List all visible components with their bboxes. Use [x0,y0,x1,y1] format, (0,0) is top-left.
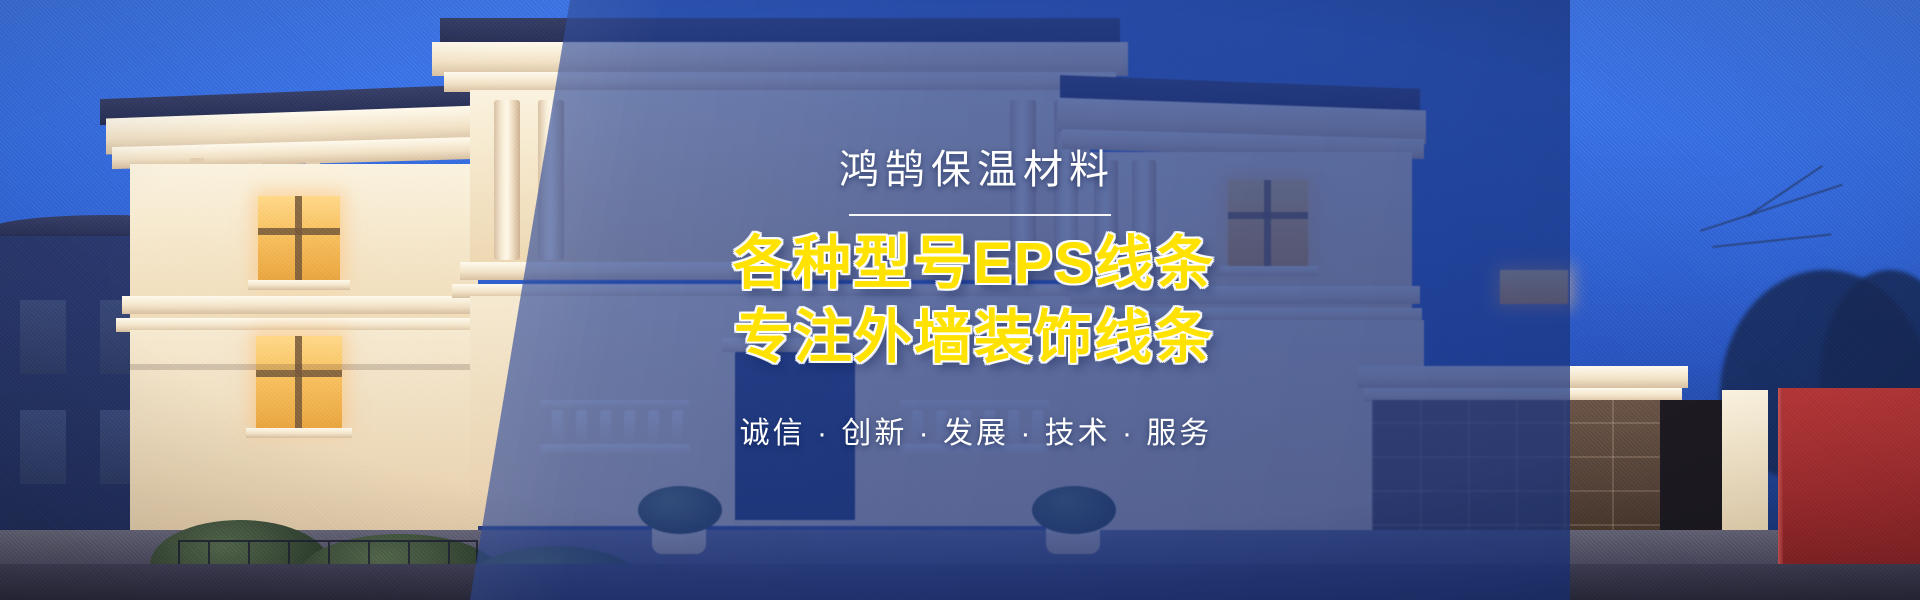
red-wall [1778,388,1920,570]
neighbor-window-1 [20,300,66,374]
villa-left-window-upper-mullion-h [258,228,340,235]
tagline: 诚信 · 创新 · 发展 · 技术 · 服务 [718,408,1213,452]
villa-left-window-lower-mullion-v [295,336,302,428]
hero-banner: 鸿鹄保温材料 各种型号EPS线条 专注外墙装饰线条 诚信 · 创新 · 发展 ·… [0,0,1920,600]
brand-name: 鸿鹄保温材料 [585,148,1345,192]
villa-left-window-upper-mullion-v [295,196,302,280]
villa-left-band-1 [122,296,482,314]
title-divider-rule [849,214,1111,216]
villa-left-window-upper-sill [248,280,350,290]
banner-text-block: 鸿鹄保温材料 各种型号EPS线条 专注外墙装饰线条 诚信 · 创新 · 发展 ·… [585,0,1345,600]
red-wall-edge [1778,388,1783,570]
villa-center-column-1 [494,100,520,260]
villa-left-window-lower-mullion-h [256,370,342,377]
villa-left-shadow-band [130,364,478,370]
headline-line-1: 各种型号EPS线条 [715,230,1215,298]
neighbor-window-3 [20,410,66,484]
villa-left-window-lower-sill [246,428,352,438]
headline-line-2: 专注外墙装饰线条 [716,304,1214,372]
